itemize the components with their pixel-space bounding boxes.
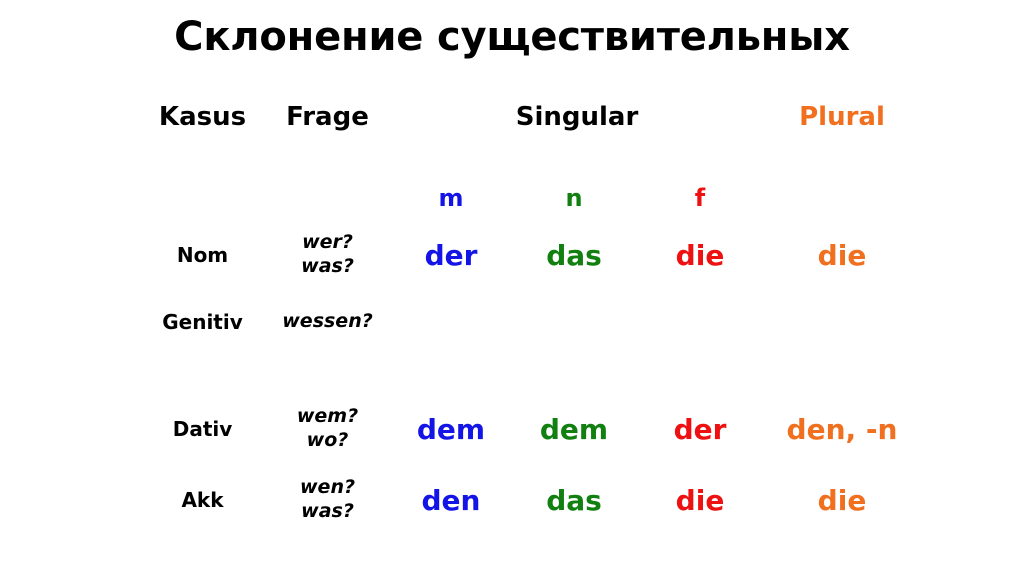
case-question: wen? was? — [265, 476, 390, 524]
question-line-2: was? — [265, 500, 390, 524]
form-plural: die — [764, 239, 920, 272]
case-label: Akk — [140, 488, 265, 512]
case-label: Genitiv — [140, 310, 265, 334]
case-question: wer? was? — [265, 231, 390, 279]
question-line-2: wo? — [265, 429, 390, 453]
table-row: Nom wer? was? der das die die — [140, 222, 920, 288]
header-singular: Singular — [390, 102, 764, 132]
gender-feminine: f — [636, 184, 764, 216]
question-line-1: wem? — [297, 405, 358, 427]
table-row: Genitiv wessen? — [140, 292, 920, 352]
slide-canvas: Склонение существительных Kasus Frage Si… — [0, 0, 1024, 576]
header-plural: Plural — [764, 102, 920, 132]
question-line-1: wen? — [300, 476, 355, 498]
table-row: Dativ wem? wo? dem dem der den, -n — [140, 398, 920, 460]
table-header-row: Kasus Frage Singular Plural — [140, 90, 920, 144]
form-feminine: die — [636, 239, 764, 272]
form-neuter: dem — [512, 413, 636, 446]
form-masculine: den — [390, 484, 512, 517]
form-masculine: der — [390, 239, 512, 272]
form-plural: die — [764, 484, 920, 517]
form-masculine: dem — [390, 413, 512, 446]
declension-table: Kasus Frage Singular Plural . . m n f . … — [140, 90, 920, 532]
form-neuter: das — [512, 484, 636, 517]
header-kasus: Kasus — [140, 102, 265, 132]
form-feminine: der — [636, 413, 764, 446]
gender-neuter: n — [512, 184, 636, 216]
case-question: wem? wo? — [265, 405, 390, 453]
page-title: Склонение существительных — [0, 14, 1024, 60]
gender-masculine: m — [390, 184, 512, 216]
table-row: Akk wen? was? den das die die — [140, 468, 920, 532]
case-label: Nom — [140, 243, 265, 267]
question-line-2: was? — [265, 255, 390, 279]
question-line-1: wer? — [302, 231, 353, 253]
gender-header-row: . . m n f . — [140, 144, 920, 216]
form-feminine: die — [636, 484, 764, 517]
form-plural: den, -n — [764, 413, 920, 446]
case-label: Dativ — [140, 417, 265, 441]
case-question: wessen? — [265, 310, 390, 334]
question-line-1: wessen? — [282, 310, 373, 332]
form-neuter: das — [512, 239, 636, 272]
header-frage: Frage — [265, 102, 390, 132]
